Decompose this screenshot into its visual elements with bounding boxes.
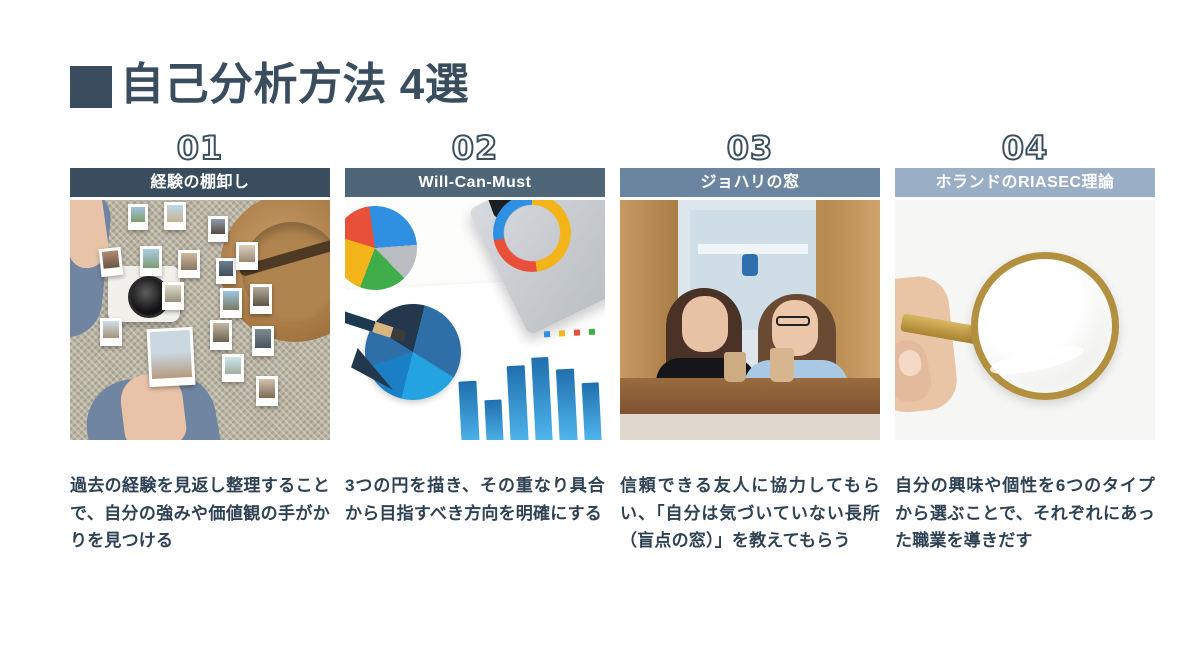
polaroid-photos-illustration <box>70 200 330 440</box>
card-01[interactable]: 01 経験の棚卸し <box>70 130 330 555</box>
magnifying-glass-illustration <box>895 200 1155 440</box>
card-image-04 <box>895 200 1155 440</box>
card-04[interactable]: 04 ホランドのRIASEC理論 自分の興味や個性を6つのタイプから選ぶことで、… <box>895 130 1155 555</box>
card-number-01: 01 <box>70 130 330 168</box>
card-caption-01: 過去の経験を見返し整理することで、自分の強みや価値観の手がかりを見つける <box>70 472 330 555</box>
card-caption-03: 信頼できる友人に協力してもらい、「自分は気づいていない長所（盲点の窓）」を教えて… <box>620 472 880 555</box>
card-heading-04: ホランドのRIASEC理論 <box>895 168 1155 197</box>
card-number-04: 04 <box>895 130 1155 168</box>
card-heading-03: ジョハリの窓 <box>620 168 880 197</box>
card-image-03 <box>620 200 880 440</box>
card-grid: 01 経験の棚卸し <box>70 130 1130 555</box>
business-charts-illustration <box>345 200 605 440</box>
card-number-03: 03 <box>620 130 880 168</box>
infographic-root: 自己分析方法 4選 01 経験の棚卸し <box>0 0 1200 672</box>
card-image-01 <box>70 200 330 440</box>
title-square-bullet-icon <box>70 66 112 108</box>
card-caption-04: 自分の興味や個性を6つのタイプから選ぶことで、それぞれにあった職業を導きだす <box>895 472 1155 555</box>
card-heading-01: 経験の棚卸し <box>70 168 330 197</box>
card-02[interactable]: 02 Will-Can-Must <box>345 130 605 555</box>
card-heading-02: Will-Can-Must <box>345 168 605 197</box>
page-title: 自己分析方法 4選 <box>70 62 469 108</box>
card-image-02 <box>345 200 605 440</box>
page-title-text: 自己分析方法 4選 <box>120 63 469 107</box>
two-women-conversation-illustration <box>620 200 880 440</box>
card-number-02: 02 <box>345 130 605 168</box>
card-caption-02: 3つの円を描き、その重なり具合から目指すべき方向を明確にする <box>345 472 605 527</box>
card-03[interactable]: 03 ジョハリの窓 信頼できる友人に協力してもら <box>620 130 880 555</box>
